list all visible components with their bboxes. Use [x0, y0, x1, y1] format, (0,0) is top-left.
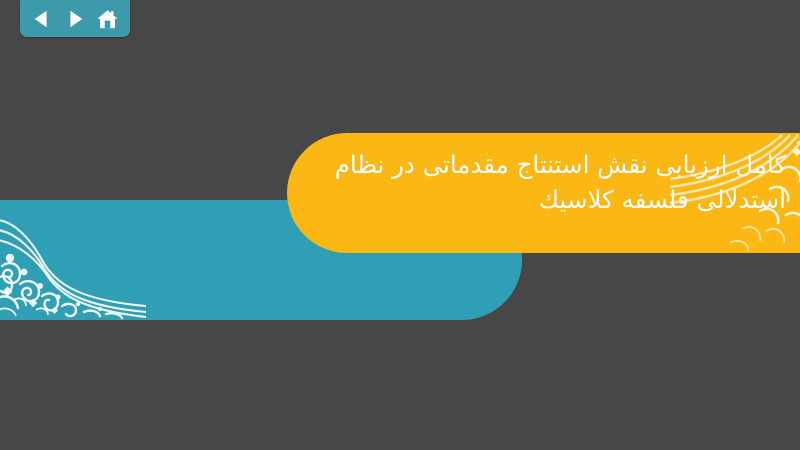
page-title-text: کامل ارزیابی نقش استنتاج مقدماتی در نظام… [266, 148, 786, 218]
home-button[interactable] [95, 6, 121, 32]
triangle-right-icon [64, 8, 86, 30]
back-button[interactable] [29, 6, 55, 32]
triangle-left-icon [31, 8, 53, 30]
slide-canvas: کامل ارزیابی نقش استنتاج مقدماتی در نظام… [0, 0, 800, 450]
navigation-bar[interactable] [20, 0, 130, 37]
page-title: کامل ارزیابی نقش استنتاج مقدماتی در نظام… [266, 148, 786, 218]
home-icon [96, 8, 119, 31]
forward-button[interactable] [62, 6, 88, 32]
arabesque-ornament-icon [0, 200, 146, 320]
